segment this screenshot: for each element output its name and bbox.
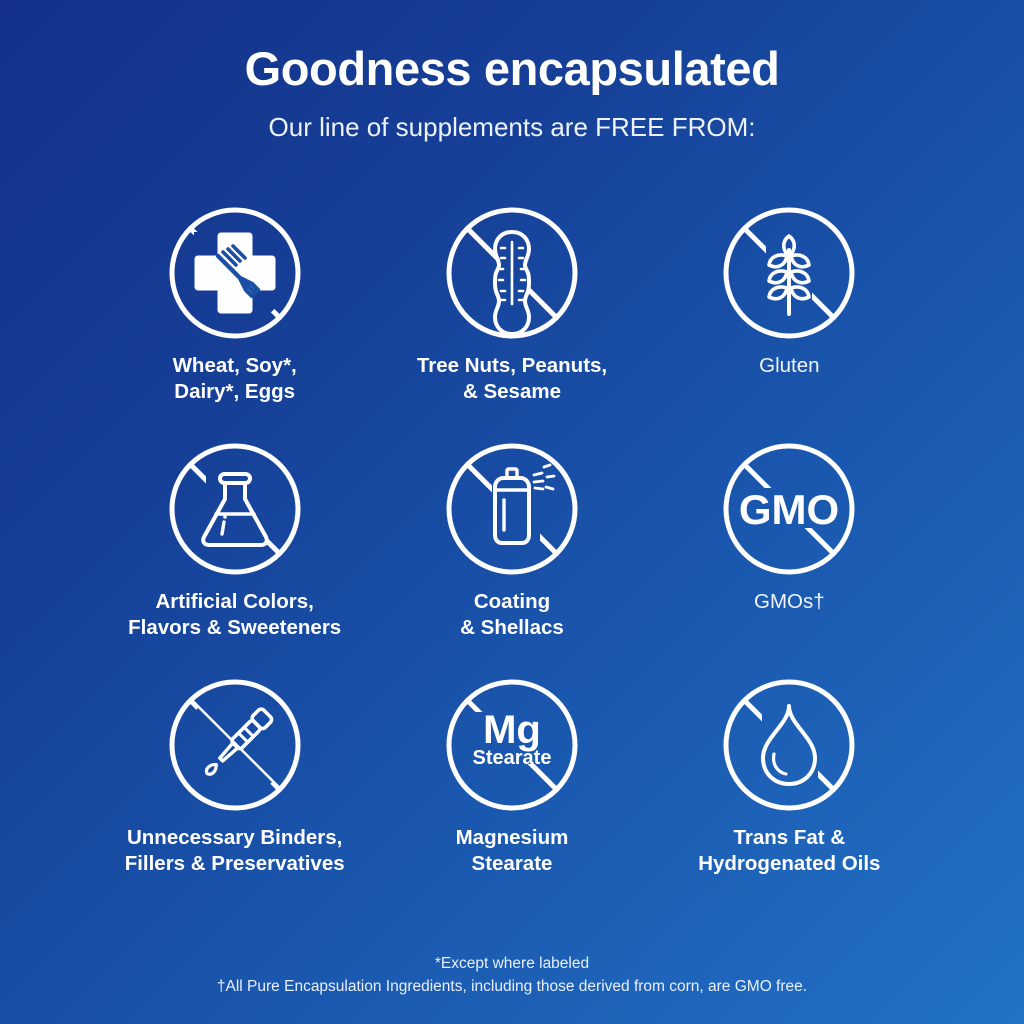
grid-item-magnesium-stearate: Mg Stearate Magnesium Stearate — [373, 678, 650, 914]
grid-item-label: Unnecessary Binders, Fillers & Preservat… — [125, 825, 345, 877]
grid-item-label: Coating & Shellacs — [460, 589, 564, 641]
footnote-asterisk: *Except where labeled — [0, 952, 1024, 975]
no-peanut-icon — [445, 206, 579, 340]
page-title: Goodness encapsulated — [0, 44, 1024, 93]
no-magnesium-stearate-icon: Mg Stearate — [445, 678, 579, 812]
no-gmo-icon: GMO — [722, 442, 856, 576]
no-allergen-cross-fork-icon — [168, 206, 302, 340]
header: Goodness encapsulated Our line of supple… — [0, 44, 1024, 142]
grid-item-label: Wheat, Soy*, Dairy*, Eggs — [173, 353, 297, 405]
page-subtitle: Our line of supplements are FREE FROM: — [0, 113, 1024, 142]
grid-item-label: Magnesium Stearate — [456, 825, 569, 877]
stearate-badge-text: Stearate — [473, 747, 552, 769]
grid-item-gmo: GMO GMOs† — [651, 442, 928, 678]
grid-item-label: Gluten — [759, 353, 819, 379]
no-spray-can-icon — [445, 442, 579, 576]
no-dropper-icon — [168, 678, 302, 812]
free-from-grid: Wheat, Soy*, Dairy*, Eggs — [96, 206, 928, 914]
grid-item-nuts: Tree Nuts, Peanuts, & Sesame — [373, 206, 650, 442]
grid-item-label: GMOs† — [754, 589, 825, 615]
footnotes: *Except where labeled †All Pure Encapsul… — [0, 952, 1024, 999]
grid-item-binders: Unnecessary Binders, Fillers & Preservat… — [96, 678, 373, 914]
grid-item-allergens: Wheat, Soy*, Dairy*, Eggs — [96, 206, 373, 442]
no-wheat-stalk-icon — [722, 206, 856, 340]
grid-item-label: Trans Fat & Hydrogenated Oils — [698, 825, 880, 877]
no-flask-icon — [168, 442, 302, 576]
grid-item-gluten: Gluten — [651, 206, 928, 442]
grid-item-artificial-colors: Artificial Colors, Flavors & Sweeteners — [96, 442, 373, 678]
grid-item-label: Artificial Colors, Flavors & Sweeteners — [128, 589, 341, 641]
grid-item-trans-fat: Trans Fat & Hydrogenated Oils — [651, 678, 928, 914]
infographic-poster: Goodness encapsulated Our line of supple… — [0, 0, 1024, 1024]
gmo-badge-text: GMO — [739, 486, 839, 533]
grid-item-coating: Coating & Shellacs — [373, 442, 650, 678]
mg-badge-text: Mg — [483, 708, 541, 752]
grid-item-label: Tree Nuts, Peanuts, & Sesame — [417, 353, 607, 405]
footnote-dagger: †All Pure Encapsulation Ingredients, inc… — [0, 975, 1024, 998]
no-oil-droplet-icon — [722, 678, 856, 812]
